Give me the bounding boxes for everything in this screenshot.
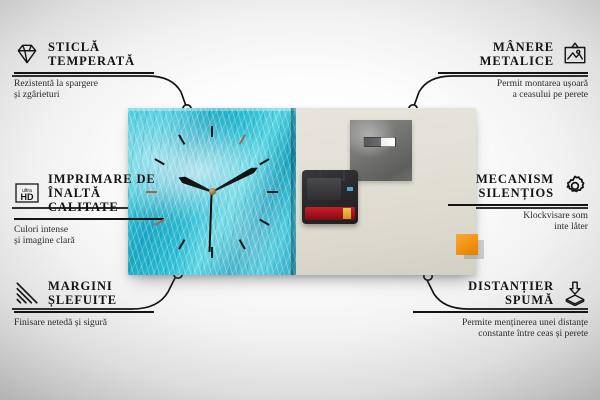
hand-center-cap (209, 188, 216, 195)
minute-hand (211, 164, 260, 194)
battery (305, 207, 355, 220)
callout-tempered-glass: STICLĂ TEMPERATĂ Rezistentă la spargere … (14, 40, 154, 101)
metal-hanger-plate (350, 120, 412, 181)
ultra-hd-icon: ultra HD (14, 180, 40, 206)
callout-title: MARGINI ȘLEFUITE (48, 279, 117, 307)
callout-foam-spacer: DISTANȚIER SPUMĂ Permite menținerea unei… (413, 279, 588, 340)
movement-face (307, 178, 341, 200)
foam-spacer-sample (456, 234, 478, 255)
callout-rule (448, 204, 588, 206)
callout-head: DISTANȚIER SPUMĂ (413, 279, 588, 307)
callout-title: STICLĂ TEMPERATĂ (48, 40, 135, 68)
callout-title: DISTANȚIER SPUMĂ (468, 279, 554, 307)
quartz-movement (302, 170, 358, 224)
clock-face (128, 108, 296, 275)
hour-hand (177, 174, 214, 195)
callout-head: MECANISM SILENȚIOS (448, 172, 588, 200)
callout-subtitle: Rezistentă la spargere și zgârieturi (14, 78, 154, 101)
callout-rule (14, 72, 154, 74)
callout-head: STICLĂ TEMPERATĂ (14, 40, 154, 68)
svg-text:HD: HD (21, 192, 34, 202)
callout-subtitle: Finisare netedă și sigură (14, 317, 154, 329)
callout-subtitle: Klockvisare som inte låter (448, 210, 588, 233)
callout-head: MÂNERE METALICE (438, 40, 588, 68)
callout-subtitle: Permite menținerea unei distanțe constan… (413, 317, 588, 340)
infographic-canvas: STICLĂ TEMPERATĂ Rezistentă la spargere … (0, 0, 600, 400)
movement-indicator (347, 187, 353, 191)
hanger-slot (363, 137, 396, 147)
callout-metal-handles: MÂNERE METALICE Permit montarea ușoară a… (438, 40, 588, 101)
hanging-frame-icon (562, 41, 588, 67)
callout-polished-edges: MARGINI ȘLEFUITE Finisare netedă și sigu… (14, 279, 154, 328)
callout-rule (413, 311, 588, 313)
callout-rule (14, 311, 154, 313)
callout-subtitle: Permit montarea ușoară a ceasului pe per… (438, 78, 588, 101)
diamond-icon (14, 41, 40, 67)
callout-head: MARGINI ȘLEFUITE (14, 279, 154, 307)
callout-title: MÂNERE METALICE (480, 40, 554, 68)
callout-title: MECANISM SILENȚIOS (476, 172, 554, 200)
second-hand (209, 191, 213, 251)
callout-rule (438, 72, 588, 74)
product-photo (128, 108, 476, 275)
callout-silent-mechanism: MECANISM SILENȚIOS Klockvisare som inte … (448, 172, 588, 233)
press-down-layers-icon (562, 280, 588, 306)
gear-icon (562, 173, 588, 199)
diagonal-lines-icon (14, 280, 40, 306)
